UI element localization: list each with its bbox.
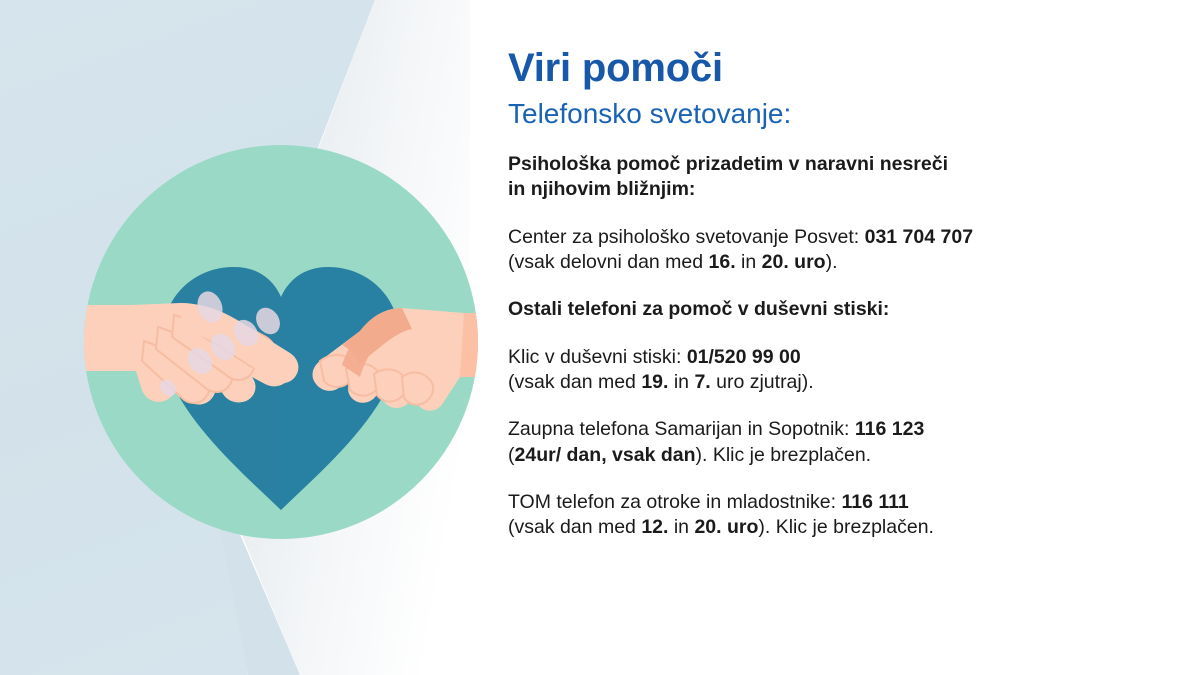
body-section-klic-v-stiski: Klic v duševni stiski: 01/520 99 00(vsak…	[508, 345, 1168, 396]
plain-text: ).	[826, 251, 838, 273]
body-sections: Psihološka pomoč prizadetim v naravni ne…	[508, 152, 1168, 541]
plain-text: uro zjutraj).	[711, 371, 814, 393]
body-line: Ostali telefoni za pomoč v duševni stisk…	[508, 297, 1168, 322]
body-line: in njihovim bližnjim:	[508, 177, 1168, 202]
emphasis-text: 01/520 99 00	[687, 346, 801, 368]
emphasis-text: 20. uro	[694, 516, 758, 538]
emphasis-text: 24ur/ dan, vsak dan	[515, 444, 696, 466]
body-line: (vsak dan med 19. in 7. uro zjutraj).	[508, 370, 1168, 395]
plain-text: TOM telefon za otroke in mladostnike:	[508, 491, 841, 513]
plain-text: (vsak dan med	[508, 371, 641, 393]
page-subtitle: Telefonsko svetovanje:	[508, 97, 1168, 130]
body-line: Psihološka pomoč prizadetim v naravni ne…	[508, 152, 1168, 177]
body-line: (vsak dan med 12. in 20. uro). Klic je b…	[508, 515, 1168, 540]
plain-text: Klic v duševni stiski:	[508, 346, 687, 368]
body-line: TOM telefon za otroke in mladostnike: 11…	[508, 490, 1168, 515]
body-line: Center za psihološko svetovanje Posvet: …	[508, 225, 1168, 250]
emphasis-text: in njihovim bližnjim:	[508, 178, 695, 200]
emphasis-text: 116 111	[841, 491, 908, 513]
plain-text: in	[668, 371, 694, 393]
body-section-tom-telefon: TOM telefon za otroke in mladostnike: 11…	[508, 490, 1168, 541]
plain-text: in	[736, 251, 762, 273]
emphasis-text: 031 704 707	[865, 226, 973, 248]
body-line: (24ur/ dan, vsak dan). Klic je brezplače…	[508, 443, 1168, 468]
emphasis-text: 7.	[694, 371, 710, 393]
plain-text: ). Klic je brezplačen.	[758, 516, 934, 538]
plain-text: (vsak dan med	[508, 516, 641, 538]
body-line: Klic v duševni stiski: 01/520 99 00	[508, 345, 1168, 370]
body-section-ostali-heading: Ostali telefoni za pomoč v duševni stisk…	[508, 297, 1168, 322]
emphasis-text: Ostali telefoni za pomoč v duševni stisk…	[508, 298, 889, 320]
emphasis-text: 19.	[641, 371, 668, 393]
body-line: Zaupna telefona Samarijan in Sopotnik: 1…	[508, 417, 1168, 442]
plain-text: (vsak delovni dan med	[508, 251, 709, 273]
emphasis-text: 12.	[641, 516, 668, 538]
emphasis-text: 16.	[709, 251, 736, 273]
body-line: (vsak delovni dan med 16. in 20. uro).	[508, 250, 1168, 275]
body-section-intro-heading: Psihološka pomoč prizadetim v naravni ne…	[508, 152, 1168, 203]
plain-text: Center za psihološko svetovanje Posvet:	[508, 226, 865, 248]
body-section-posvet: Center za psihološko svetovanje Posvet: …	[508, 225, 1168, 276]
handshake-heart-illustration	[84, 145, 478, 539]
plain-text: Zaupna telefona Samarijan in Sopotnik:	[508, 418, 855, 440]
emphasis-text: 20. uro	[762, 251, 826, 273]
page-title: Viri pomoči	[508, 46, 1168, 91]
slide-root: Viri pomoči Telefonsko svetovanje: Psiho…	[0, 0, 1200, 675]
body-section-samarijan-sopotnik: Zaupna telefona Samarijan in Sopotnik: 1…	[508, 417, 1168, 468]
text-content-panel: Viri pomoči Telefonsko svetovanje: Psiho…	[508, 46, 1168, 541]
plain-text: in	[668, 516, 694, 538]
emphasis-text: Psihološka pomoč prizadetim v naravni ne…	[508, 153, 948, 175]
emphasis-text: 116 123	[855, 418, 924, 440]
plain-text: ). Klic je brezplačen.	[696, 444, 872, 466]
